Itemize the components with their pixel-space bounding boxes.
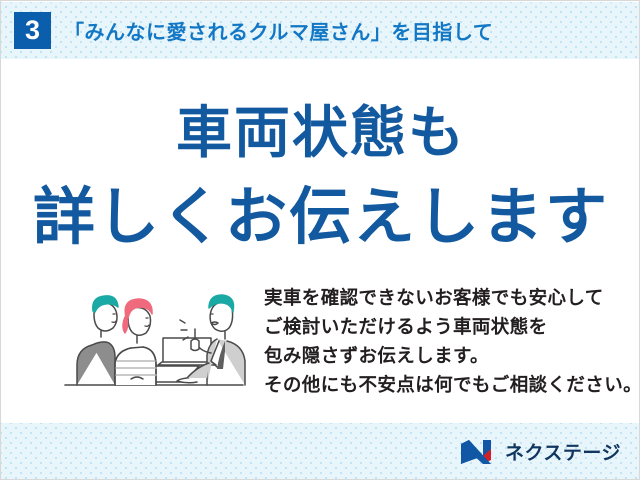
body-text-line-3: 包み隠さずお伝えします。 (264, 341, 624, 370)
header-title: 「みんなに愛されるクルマ屋さん」を目指して (64, 16, 493, 45)
body-text-line-1: 実車を確認できないお客様でも安心して (264, 283, 624, 312)
headline-line-2: 詳しくお伝えします (1, 187, 640, 249)
body-text-line-4: その他にも不安点は何でもご相談ください。 (264, 370, 624, 399)
promo-banner: 3 「みんなに愛されるクルマ屋さん」を目指して 車両状態も 詳しくお伝えします (0, 0, 640, 480)
body-text-line-2: ご検討いただけるよう車両状態を (264, 312, 624, 341)
brand-logo: ネクステージ (460, 438, 621, 465)
body-row: 実車を確認できないお客様でも安心して ご検討いただけるよう車両状態を 包み隠さず… (1, 277, 640, 407)
footer-band: ネクステージ (1, 423, 640, 480)
nextage-n-mark-icon (460, 439, 498, 465)
header-band: 3 「みんなに愛されるクルマ屋さん」を目指して (1, 2, 640, 59)
header-content: 3 「みんなに愛されるクルマ屋さん」を目指して (1, 2, 640, 59)
footer-content: ネクステージ (1, 423, 640, 480)
body-text-block: 実車を確認できないお客様でも安心して ご検討いただけるよう車両状態を 包み隠さず… (264, 283, 624, 399)
headline-line-1: 車両状態も (1, 105, 640, 161)
brand-logo-text: ネクステージ (505, 438, 621, 465)
consultation-illustration (59, 281, 249, 399)
section-number-badge: 3 (14, 12, 51, 49)
